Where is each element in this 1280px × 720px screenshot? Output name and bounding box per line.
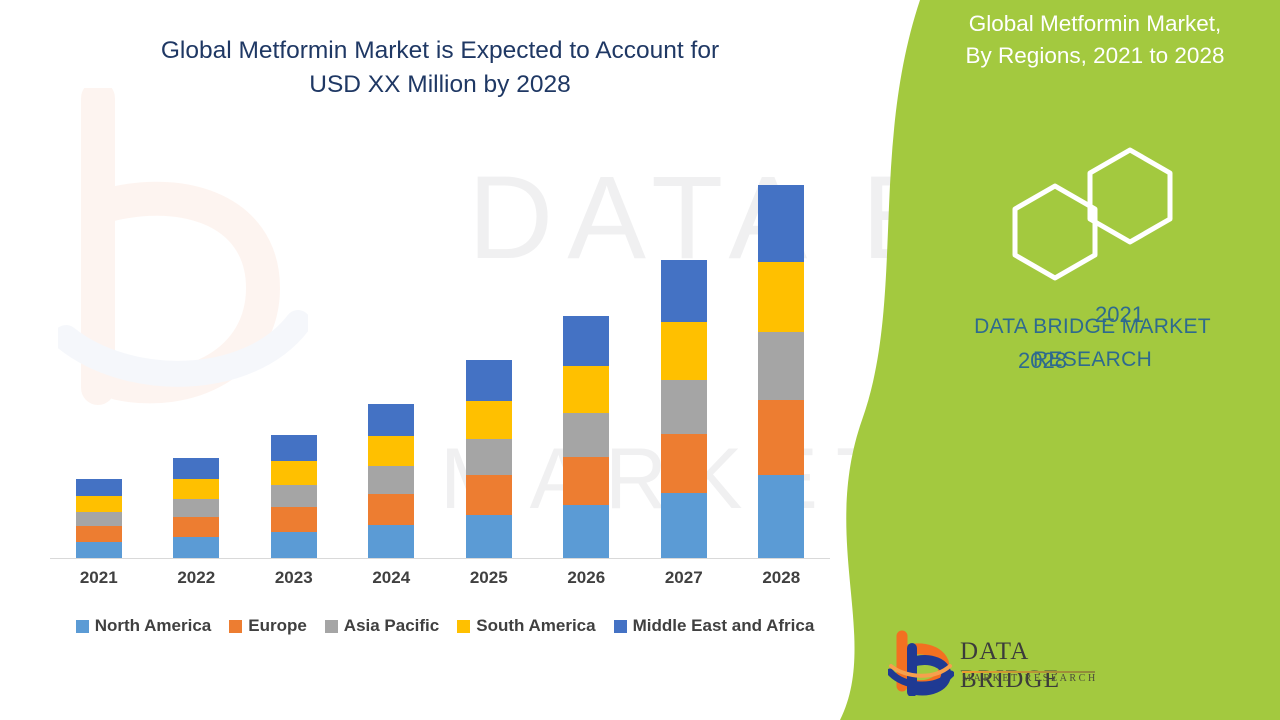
hexagon-outlines-icon [905,130,1280,290]
bar-segment [271,507,317,532]
x-axis-label-2028: 2028 [733,568,829,588]
legend-item-middle-east-and-africa[interactable]: Middle East and Africa [614,616,815,636]
x-axis-label-2027: 2027 [636,568,732,588]
bar-segment [173,517,219,537]
x-axis-line [50,558,830,559]
data-bridge-logo-icon [888,630,954,696]
x-axis-label-2023: 2023 [246,568,342,588]
chart-legend: North AmericaEuropeAsia PacificSouth Ame… [50,616,840,636]
bar-stack [466,360,512,559]
bar-segment [661,260,707,322]
bar-column-2021 [51,479,147,559]
legend-swatch-icon [229,620,242,633]
bar-segment [758,475,804,559]
chart-title-line-1: Global Metformin Market is Expected to A… [161,37,719,64]
bar-stack [661,260,707,559]
bar-segment [368,466,414,494]
company-logo: DATA BRIDGE MARKET RESEARCH [888,630,1118,710]
x-axis-label-2026: 2026 [538,568,634,588]
x-axis-label-2021: 2021 [51,568,147,588]
bar-segment [173,537,219,559]
legend-label: Asia Pacific [344,616,439,636]
bar-column-2024 [343,404,439,559]
bar-stack [76,479,122,559]
bar-stack [758,185,804,559]
bar-segment [76,496,122,512]
bar-segment [661,493,707,559]
bar-segment [661,434,707,493]
bar-segment [271,485,317,507]
brand-name: DATA BRIDGE MARKET RESEARCH [910,310,1275,376]
bar-segment [563,505,609,559]
bar-segment [466,515,512,559]
bar-column-2023 [246,435,342,559]
bar-segment [76,479,122,496]
x-axis-label-2024: 2024 [343,568,439,588]
legend-label: North America [95,616,212,636]
bar-segment [661,322,707,380]
panel-title-line-2: By Regions, 2021 to 2028 [966,43,1225,68]
bar-segment [758,400,804,475]
bar-segment [466,360,512,401]
bar-segment [466,401,512,439]
bar-segment [368,436,414,466]
legend-swatch-icon [325,620,338,633]
bar-segment [563,457,609,505]
bar-segment [466,475,512,515]
bar-segment [661,380,707,434]
bar-stack [563,316,609,559]
bar-column-2028 [733,185,829,559]
bar-segment [271,435,317,461]
logo-name: DATA BRIDGE [960,638,1118,694]
chart-title-line-2: USD XX Million by 2028 [309,71,570,98]
bar-segment [368,525,414,559]
bar-segment [758,332,804,400]
brand-name-line-1: DATA BRIDGE MARKET [974,315,1211,338]
x-axis-label-2022: 2022 [148,568,244,588]
bar-column-2026 [538,316,634,559]
bar-segment [76,512,122,526]
bar-column-2025 [441,360,537,559]
hexagon-group: 2021 2028 [905,130,1280,290]
chart-panel: Global Metformin Market is Expected to A… [0,0,880,720]
legend-item-north-america[interactable]: North America [76,616,212,636]
bar-segment [563,413,609,457]
bar-column-2027 [636,260,732,559]
bar-segment [271,532,317,559]
bar-segment [368,494,414,525]
bar-segment [76,542,122,559]
legend-label: Europe [248,616,307,636]
bar-segment [758,262,804,332]
hexagon-2028 [1015,186,1095,278]
legend-item-south-america[interactable]: South America [457,616,595,636]
brand-panel-content: Global Metformin Market, By Regions, 202… [905,0,1280,720]
bar-stack [368,404,414,559]
legend-item-asia-pacific[interactable]: Asia Pacific [325,616,439,636]
bar-segment [173,499,219,517]
bar-segment [368,404,414,436]
x-axis-label-2025: 2025 [441,568,537,588]
bar-segment [173,479,219,499]
bar-segment [271,461,317,485]
bar-stack [271,435,317,559]
bar-column-2022 [148,458,244,559]
legend-swatch-icon [457,620,470,633]
panel-title: Global Metformin Market, By Regions, 202… [915,8,1275,72]
legend-swatch-icon [76,620,89,633]
bar-segment [173,458,219,479]
logo-tagline: MARKET RESEARCH [962,673,1098,684]
legend-swatch-icon [614,620,627,633]
brand-name-line-2: RESEARCH [1033,348,1152,371]
bar-segment [563,316,609,366]
stacked-bar-plot [50,160,830,559]
bar-segment [76,526,122,542]
bar-segment [758,185,804,262]
bar-segment [466,439,512,475]
legend-label: Middle East and Africa [633,616,815,636]
x-axis-labels: 20212022202320242025202620272028 [50,568,830,598]
legend-item-europe[interactable]: Europe [229,616,307,636]
chart-title: Global Metformin Market is Expected to A… [60,34,820,102]
hexagon-2021 [1090,150,1170,242]
legend-label: South America [476,616,595,636]
bar-segment [563,366,609,413]
panel-title-line-1: Global Metformin Market, [969,11,1222,36]
bar-stack [173,458,219,559]
